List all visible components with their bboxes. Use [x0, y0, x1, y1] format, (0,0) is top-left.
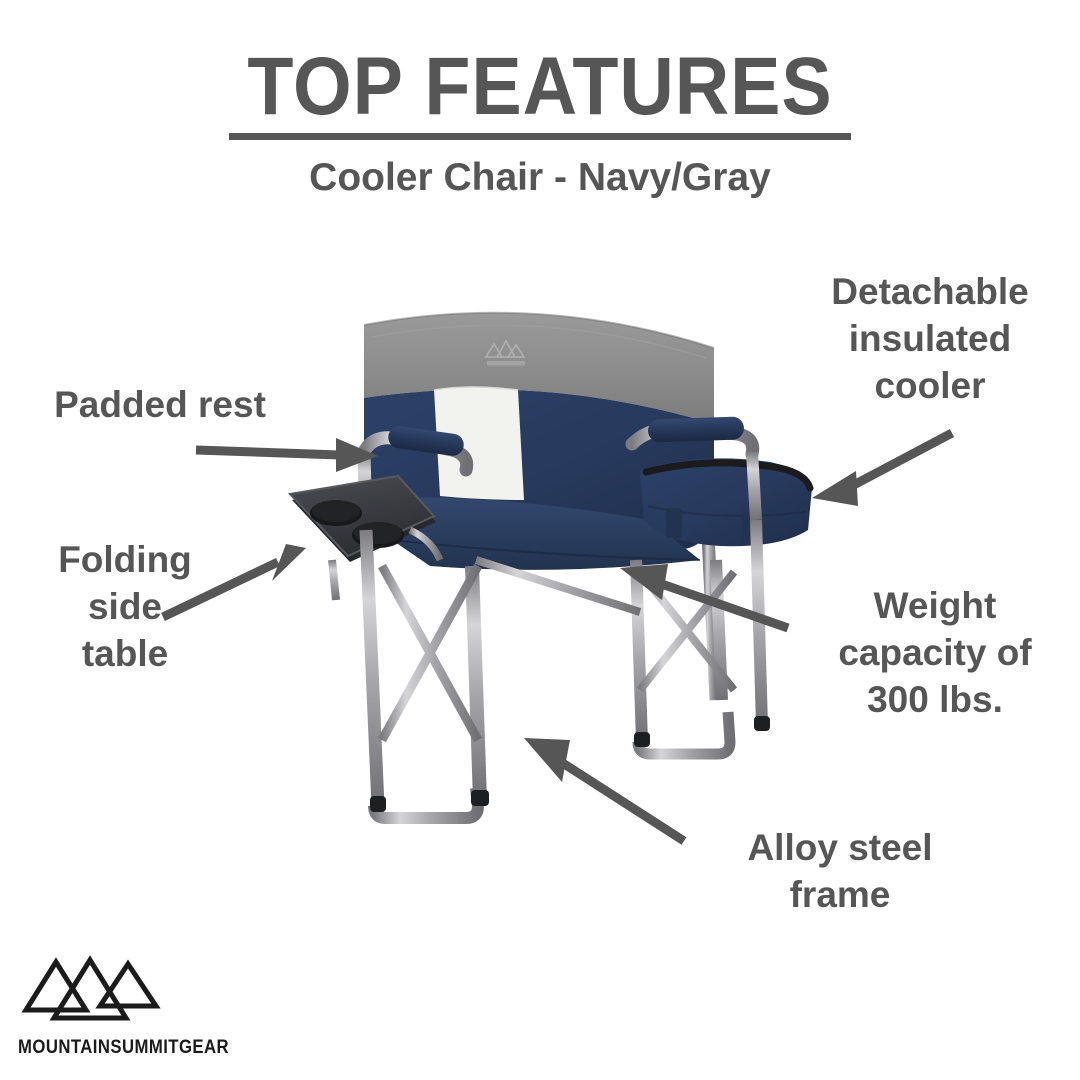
callout-arrows — [0, 0, 1080, 1080]
arrow-alloy-steel-frame — [524, 738, 684, 841]
infographic-canvas: TOP FEATURES Cooler Chair - Navy/Gray — [0, 0, 1080, 1080]
arrow-folding-side-table — [163, 544, 306, 617]
arrow-weight-capacity — [620, 564, 788, 628]
arrow-padded-rest — [196, 438, 378, 472]
arrow-detachable-cooler — [812, 433, 952, 506]
